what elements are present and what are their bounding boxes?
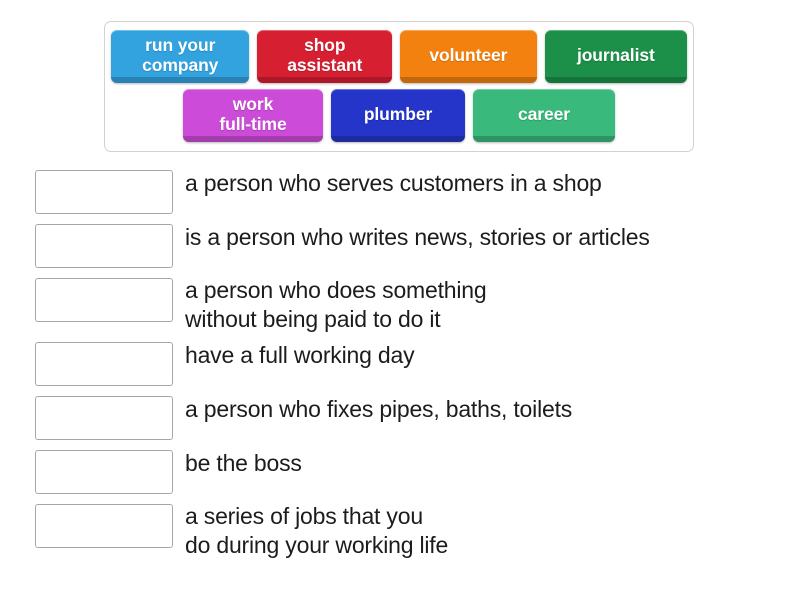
tile-label: career: [518, 104, 570, 124]
tile-volunteer[interactable]: volunteer: [400, 30, 537, 83]
answer-drop-box[interactable]: [35, 224, 173, 268]
tile-label: work full-time: [219, 94, 286, 134]
word-bank-row-2: work full-time plumber career: [111, 89, 687, 142]
answer-drop-box[interactable]: [35, 450, 173, 494]
tile-run-your-company[interactable]: run your company: [111, 30, 249, 83]
question-list: a person who serves customers in a shop …: [35, 168, 795, 566]
question-row: a series of jobs that you do during your…: [35, 502, 795, 560]
question-row: a person who serves customers in a shop: [35, 168, 795, 216]
question-text: a person who fixes pipes, baths, toilets: [185, 394, 795, 424]
tile-work-full-time[interactable]: work full-time: [183, 89, 323, 142]
tile-journalist[interactable]: journalist: [545, 30, 687, 83]
question-row: is a person who writes news, stories or …: [35, 222, 795, 270]
tile-label: plumber: [364, 104, 432, 124]
question-text: is a person who writes news, stories or …: [185, 222, 795, 252]
question-row: a person who does something without bein…: [35, 276, 795, 334]
word-bank-tray: run your company shop assistant voluntee…: [104, 21, 694, 152]
question-text: be the boss: [185, 448, 795, 478]
tile-shop-assistant[interactable]: shop assistant: [257, 30, 392, 83]
tile-label: journalist: [577, 45, 655, 65]
question-row: be the boss: [35, 448, 795, 496]
tile-career[interactable]: career: [473, 89, 615, 142]
answer-drop-box[interactable]: [35, 396, 173, 440]
question-text: a person who does something without bein…: [185, 276, 795, 334]
tile-plumber[interactable]: plumber: [331, 89, 465, 142]
answer-drop-box[interactable]: [35, 342, 173, 386]
question-row: a person who fixes pipes, baths, toilets: [35, 394, 795, 442]
word-bank-row-1: run your company shop assistant voluntee…: [111, 30, 687, 83]
tile-label: volunteer: [429, 45, 507, 65]
answer-drop-box[interactable]: [35, 504, 173, 548]
question-text: a person who serves customers in a shop: [185, 168, 795, 198]
question-row: have a full working day: [35, 340, 795, 388]
tile-label: shop assistant: [287, 35, 362, 75]
tile-label: run your company: [142, 35, 218, 75]
question-text: a series of jobs that you do during your…: [185, 502, 795, 560]
question-text: have a full working day: [185, 340, 795, 370]
answer-drop-box[interactable]: [35, 170, 173, 214]
answer-drop-box[interactable]: [35, 278, 173, 322]
